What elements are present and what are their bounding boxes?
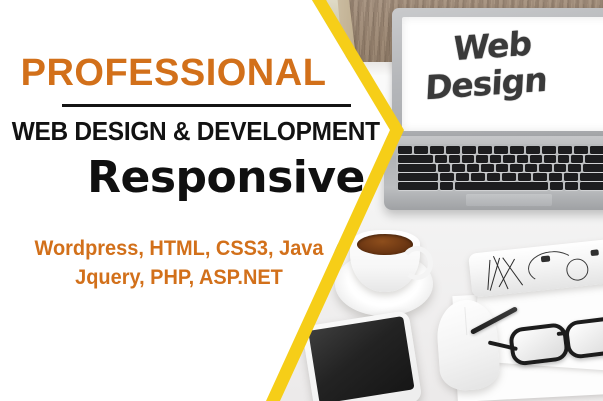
subtitle-heading: WEB DESIGN & DEVELOPMENT [12,116,380,147]
tech-list-line-2: Jquery, PHP, ASP.NET [9,266,349,290]
main-title: Responsive [0,152,452,203]
laptop-screen: Web Design [402,17,603,131]
laptop-lid: Web Design [392,8,603,140]
screen-text-line-2: Design [424,59,548,109]
eyeglasses-left-lens [508,322,570,367]
smartphone-screen [308,316,414,401]
screen-handwritten-text: Web Design [450,21,550,106]
eyeglasses-right-lens [563,315,603,360]
divider-rule [62,104,351,107]
web-design-banner: Web Design [0,0,603,401]
laptop-trackpad [466,194,552,206]
left-text-panel: PROFESSIONAL WEB DESIGN & DEVELOPMENT Re… [0,0,320,401]
eyebrow-heading: PROFESSIONAL [0,52,347,95]
tech-list-line-1: Wordpress, HTML, CSS3, Java [9,237,349,261]
